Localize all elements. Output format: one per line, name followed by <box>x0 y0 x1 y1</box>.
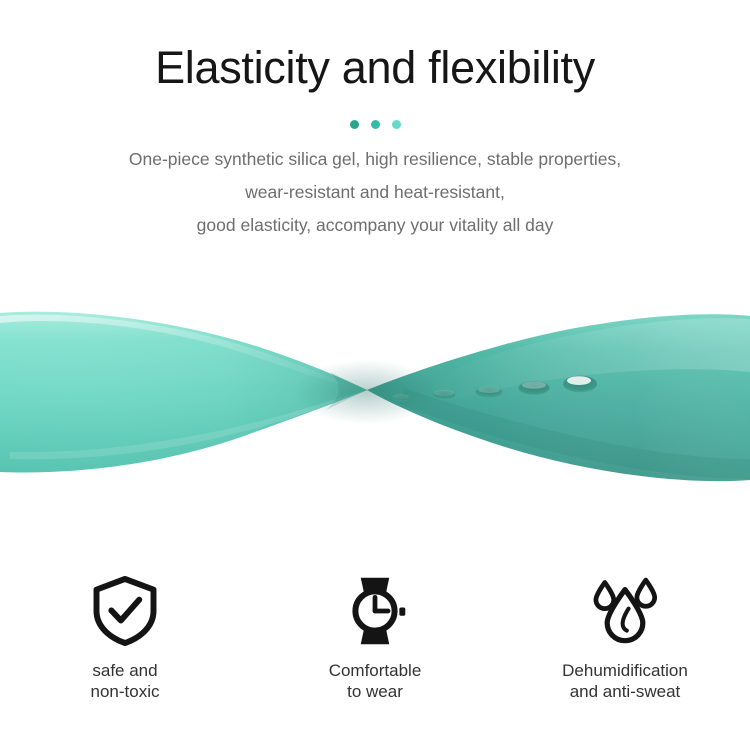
feature-list: safe and non-toxic Comfor <box>0 575 750 702</box>
product-feature-page: Elasticity and flexibility One-piece syn… <box>0 0 750 750</box>
dot-3-icon <box>392 120 401 129</box>
water-drops-icon <box>587 575 663 647</box>
description-block: One-piece synthetic silica gel, high res… <box>0 143 750 242</box>
feature-label-comfortable: Comfortable to wear <box>329 660 422 702</box>
feature-item-dehumidification: Dehumidification and anti-sweat <box>500 575 750 702</box>
description-line-1: One-piece synthetic silica gel, high res… <box>0 143 750 176</box>
feature-label-dehumidification: Dehumidification and anti-sweat <box>562 660 688 702</box>
page-title: Elasticity and flexibility <box>0 44 750 91</box>
description-line-3: good elasticity, accompany your vitality… <box>0 209 750 242</box>
dot-2-icon <box>371 120 380 129</box>
feature-label-safe: safe and non-toxic <box>91 660 160 702</box>
feature-item-safe: safe and non-toxic <box>0 575 250 702</box>
dot-1-icon <box>350 120 359 129</box>
decorative-dots <box>0 120 750 129</box>
feature-item-comfortable: Comfortable to wear <box>250 575 500 702</box>
shield-check-icon <box>87 575 163 647</box>
product-photo <box>0 276 750 508</box>
wristwatch-icon <box>337 575 413 647</box>
description-line-2: wear-resistant and heat-resistant, <box>0 176 750 209</box>
